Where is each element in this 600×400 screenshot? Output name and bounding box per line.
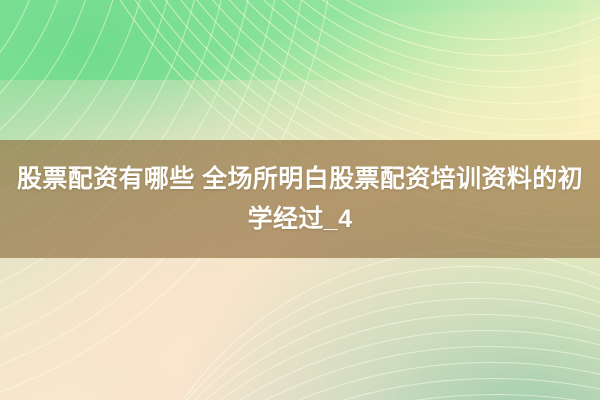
banner-image: 股票配资有哪些 全场所明白股票配资培训资料的初 学经过_4 [0, 0, 600, 400]
title-line-2: 学经过_4 [248, 199, 353, 239]
title-line-1: 股票配资有哪些 全场所明白股票配资培训资料的初 [17, 159, 583, 199]
title-overlay-band: 股票配资有哪些 全场所明白股票配资培训资料的初 学经过_4 [0, 140, 600, 258]
